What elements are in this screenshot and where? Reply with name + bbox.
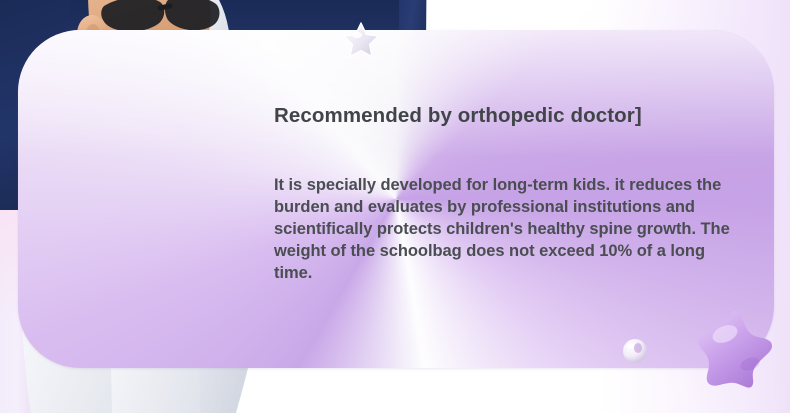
- promo-banner: Recommended by orthopedic doctor] It is …: [0, 0, 790, 413]
- body-copy: It is specially developed for long-term …: [274, 175, 736, 285]
- pearl-icon: [621, 337, 649, 365]
- headline: Recommended by orthopedic doctor]: [274, 104, 754, 128]
- star-top-icon: [341, 20, 381, 60]
- star-bottom-icon: [692, 306, 778, 390]
- text-column: Recommended by orthopedic doctor] It is …: [274, 104, 754, 285]
